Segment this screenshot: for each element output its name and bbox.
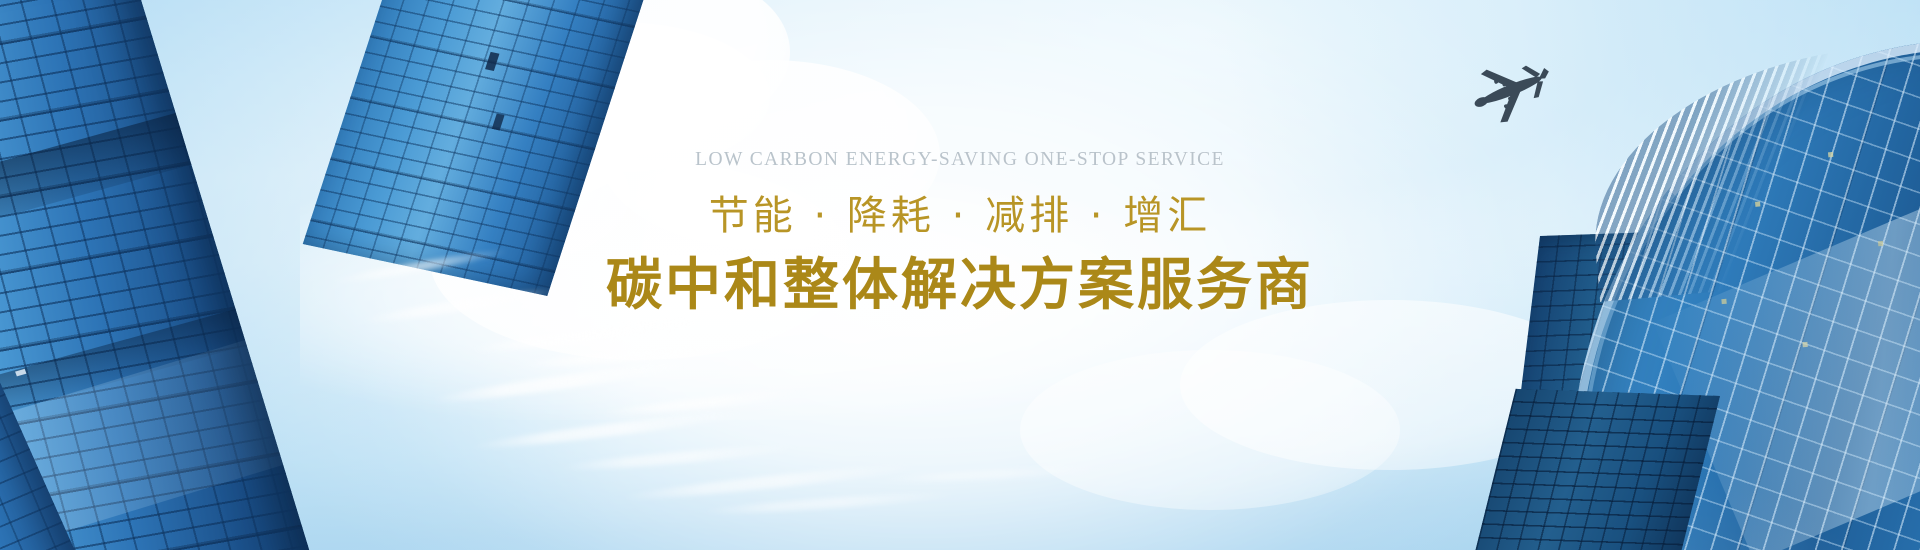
hero-banner: LOW CARBON ENERGY-SAVING ONE-STOP SERVIC… bbox=[0, 0, 1920, 550]
cumulus-cloud bbox=[1020, 350, 1400, 510]
window-light-speck bbox=[1802, 342, 1807, 347]
banner-text-block: LOW CARBON ENERGY-SAVING ONE-STOP SERVIC… bbox=[0, 150, 1920, 314]
airplane-silhouette bbox=[1455, 54, 1567, 126]
banner-eyebrow-text: LOW CARBON ENERGY-SAVING ONE-STOP SERVIC… bbox=[0, 150, 1920, 170]
banner-headline-text: 碳中和整体解决方案服务商 bbox=[0, 258, 1920, 314]
banner-kicker-text: 节能 · 降耗 · 减排 · 增汇 bbox=[0, 196, 1920, 236]
